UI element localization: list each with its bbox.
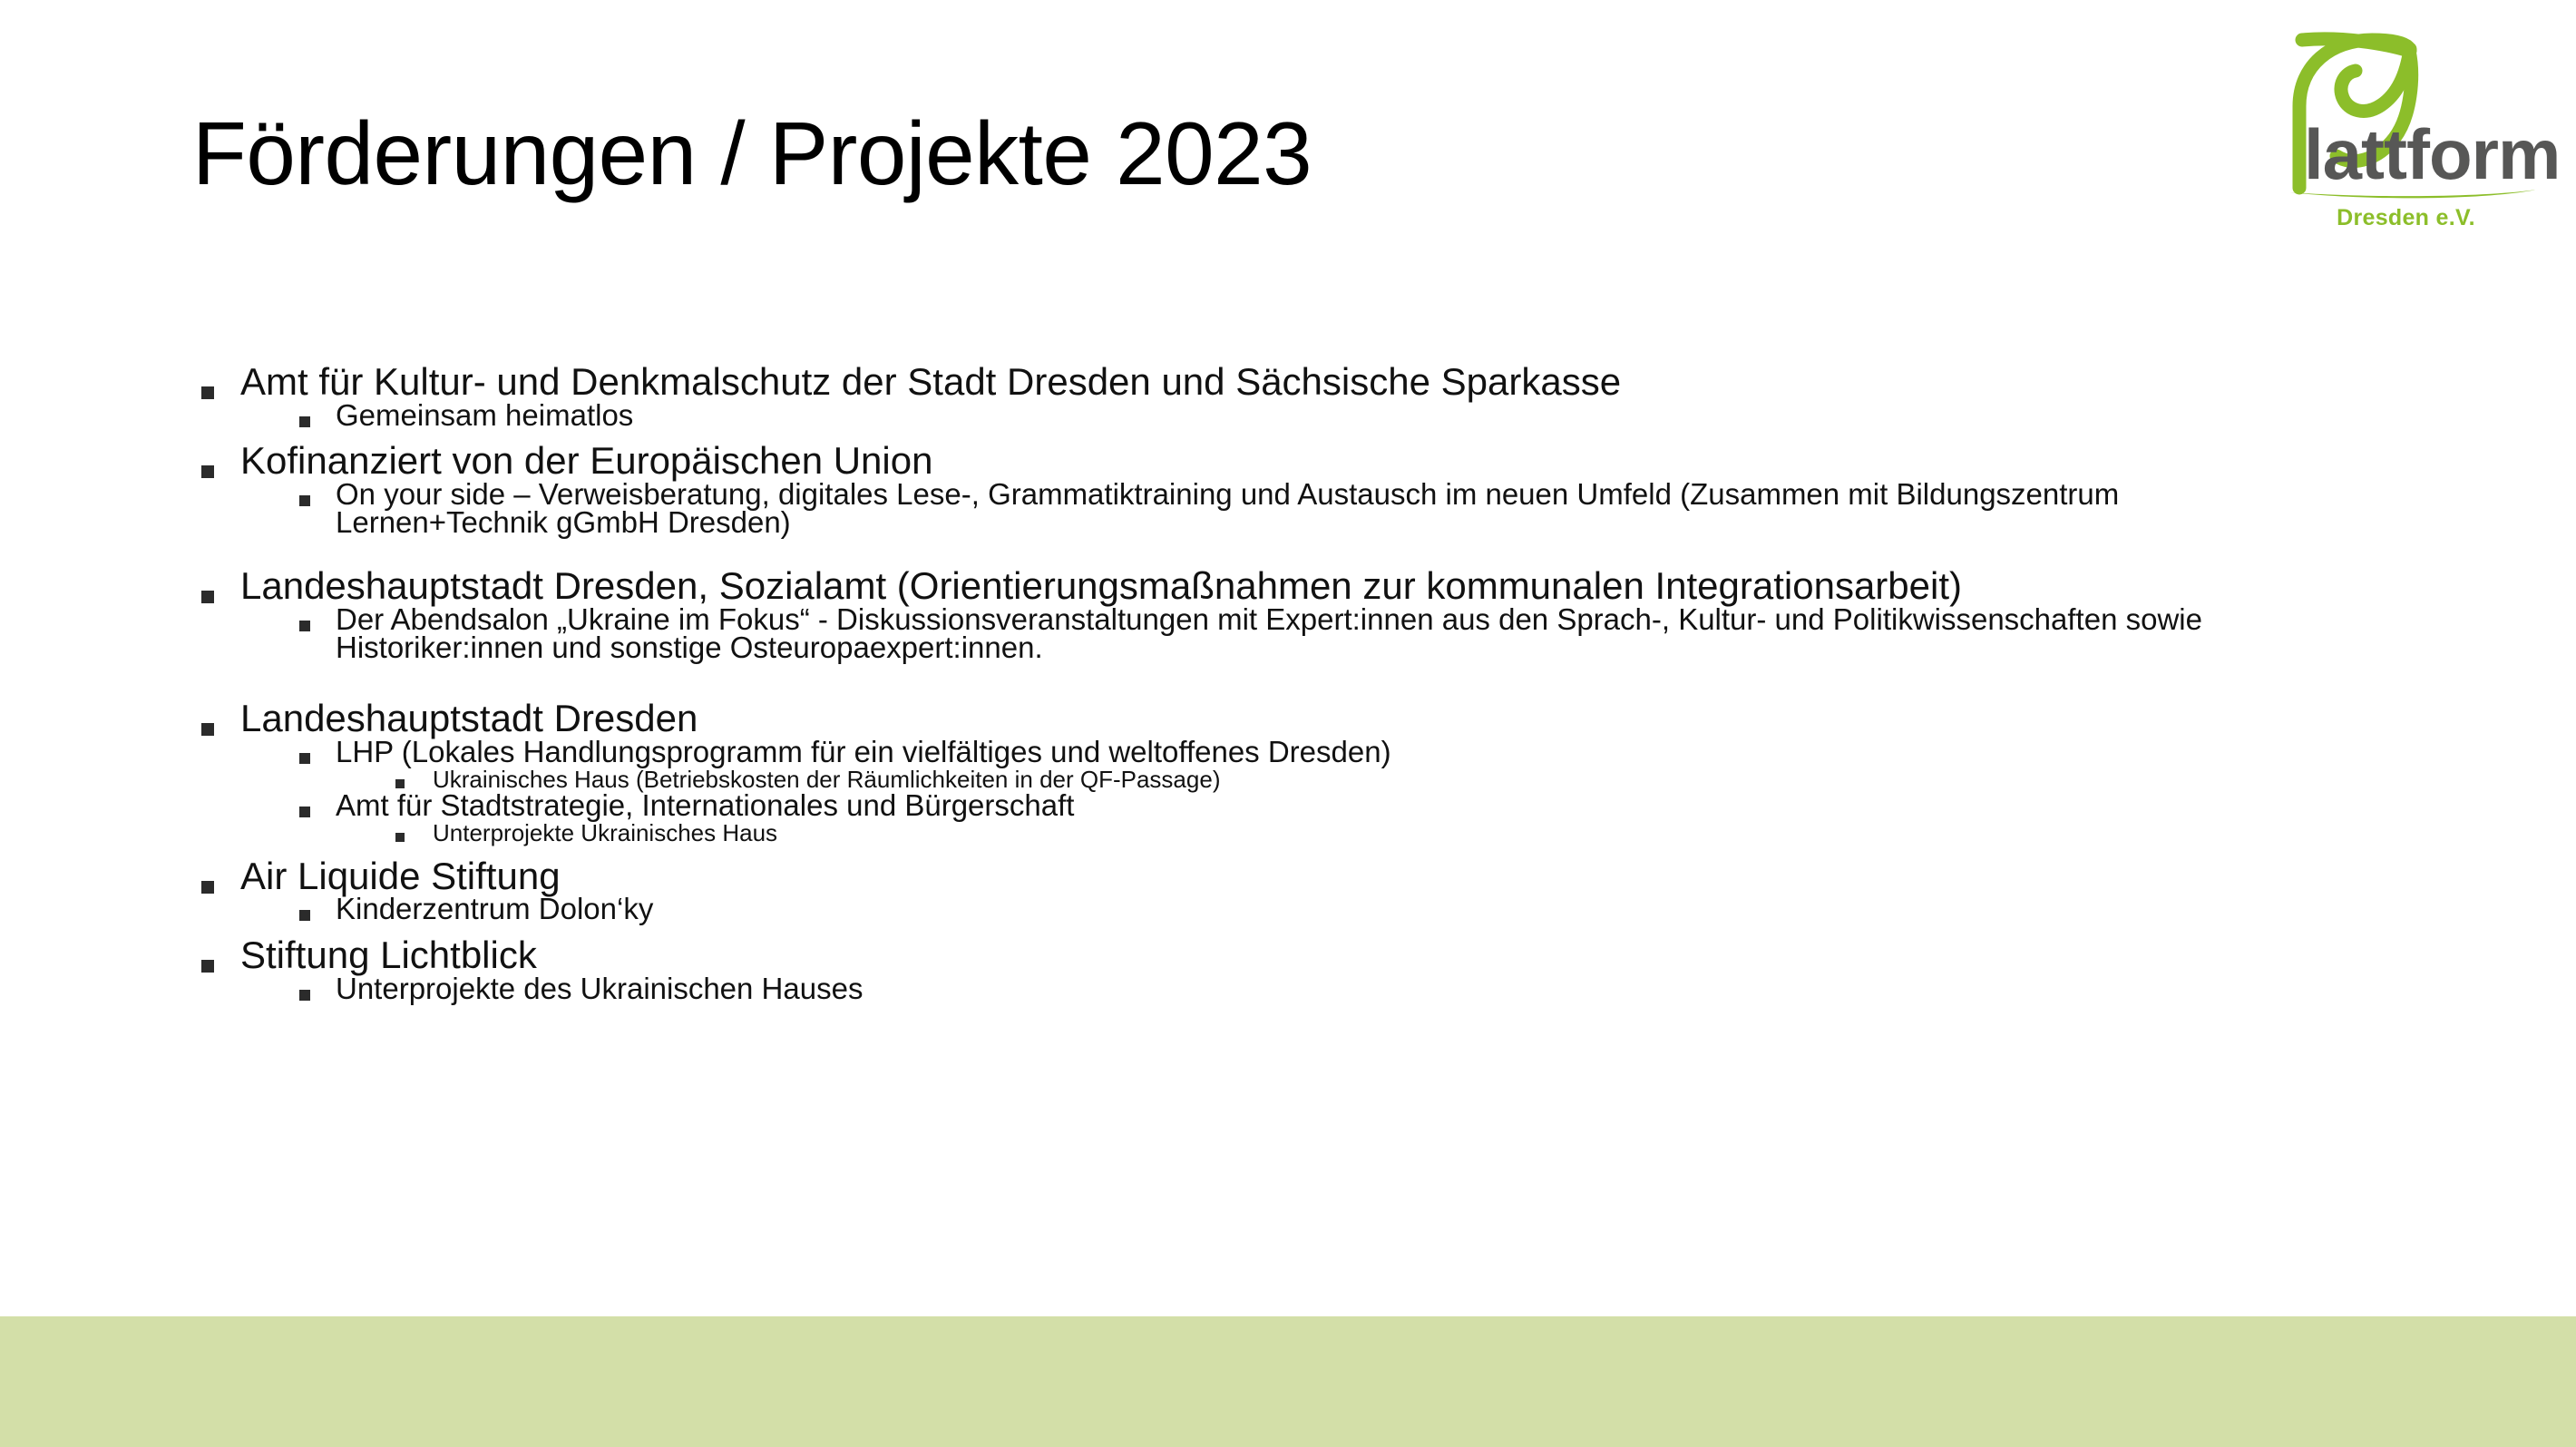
- list-item-label: Gemeinsam heimatlos: [336, 402, 2322, 430]
- bullet-square-icon: [299, 621, 310, 631]
- slide-canvas: Förderungen / Projekte 2023 lattform Dre…: [0, 0, 2576, 1447]
- list-item-label: Der Abendsalon „Ukraine im Fokus“ - Disk…: [336, 606, 2322, 661]
- list-item-label: Amt für Stadtstrategie, Internationales …: [336, 792, 2322, 820]
- list-item: Unterprojekte Ukrainisches Haus: [0, 822, 2576, 845]
- list-item: Der Abendsalon „Ukraine im Fokus“ - Disk…: [0, 606, 2576, 661]
- list-item-label: Kinderzentrum Dolon‘ky: [336, 895, 2322, 924]
- bullet-square-icon: [201, 591, 214, 603]
- list-item: Amt für Stadtstrategie, Internationales …: [0, 792, 2576, 820]
- list-item: LHP (Lokales Handlungsprogramm für ein v…: [0, 738, 2576, 767]
- list-item: Stiftung Lichtblick: [0, 938, 2576, 973]
- bullet-square-icon: [201, 386, 214, 399]
- list-item-label: Amt für Kultur- und Denkmalschutz der St…: [240, 365, 2576, 400]
- bullet-square-icon: [299, 753, 310, 764]
- bullet-square-icon: [201, 881, 214, 894]
- leaf-p-logo-icon: lattform: [2254, 20, 2558, 210]
- list-item: Kofinanziert von der Europäischen Union: [0, 444, 2576, 479]
- list-item: Amt für Kultur- und Denkmalschutz der St…: [0, 365, 2576, 400]
- footer-band: [0, 1316, 2576, 1447]
- list-item-label: Unterprojekte Ukrainisches Haus: [433, 822, 2576, 845]
- bullet-square-icon: [299, 807, 310, 817]
- list-item: Gemeinsam heimatlos: [0, 402, 2576, 430]
- bullet-square-icon: [299, 495, 310, 506]
- list-item: Unterprojekte des Ukrainischen Hauses: [0, 975, 2576, 1003]
- list-item: Landeshauptstadt Dresden, Sozialamt (Ori…: [0, 569, 2576, 604]
- list-item-label: On your side – Verweisberatung, digitale…: [336, 481, 2322, 536]
- list-item-label: Landeshauptstadt Dresden: [240, 701, 2576, 737]
- list-item-label: Ukrainisches Haus (Betriebskosten der Rä…: [433, 768, 2576, 791]
- slide-body: Amt für Kultur- und Denkmalschutz der St…: [0, 365, 2576, 1004]
- logo-wordmark: lattform: [2304, 114, 2558, 194]
- list-item: On your side – Verweisberatung, digitale…: [0, 481, 2576, 536]
- list-item-label: Unterprojekte des Ukrainischen Hauses: [336, 975, 2322, 1003]
- list-item-label: Stiftung Lichtblick: [240, 938, 2576, 973]
- list-item: Landeshauptstadt Dresden: [0, 701, 2576, 737]
- page-title: Förderungen / Projekte 2023: [192, 107, 1312, 200]
- list-item-label: Kofinanziert von der Europäischen Union: [240, 444, 2576, 479]
- list-item-label: Air Liquide Stiftung: [240, 859, 2576, 895]
- bullet-square-icon: [201, 960, 214, 973]
- bullet-square-icon: [395, 833, 405, 842]
- bullet-square-icon: [299, 416, 310, 427]
- list-item: Kinderzentrum Dolon‘ky: [0, 895, 2576, 924]
- bullet-square-icon: [299, 910, 310, 921]
- bullet-square-icon: [201, 723, 214, 736]
- bullet-square-icon: [299, 990, 310, 1001]
- list-item: Ukrainisches Haus (Betriebskosten der Rä…: [0, 768, 2576, 791]
- bullet-square-icon: [395, 779, 405, 788]
- list-item-label: LHP (Lokales Handlungsprogramm für ein v…: [336, 738, 2322, 767]
- plattform-dresden-logo: lattform Dresden e.V.: [2254, 20, 2558, 247]
- spacer: [0, 663, 2576, 701]
- list-item-label: Landeshauptstadt Dresden, Sozialamt (Ori…: [240, 569, 2576, 604]
- list-item: Air Liquide Stiftung: [0, 859, 2576, 895]
- logo-tagline: Dresden e.V.: [2254, 205, 2558, 231]
- bullet-square-icon: [201, 465, 214, 478]
